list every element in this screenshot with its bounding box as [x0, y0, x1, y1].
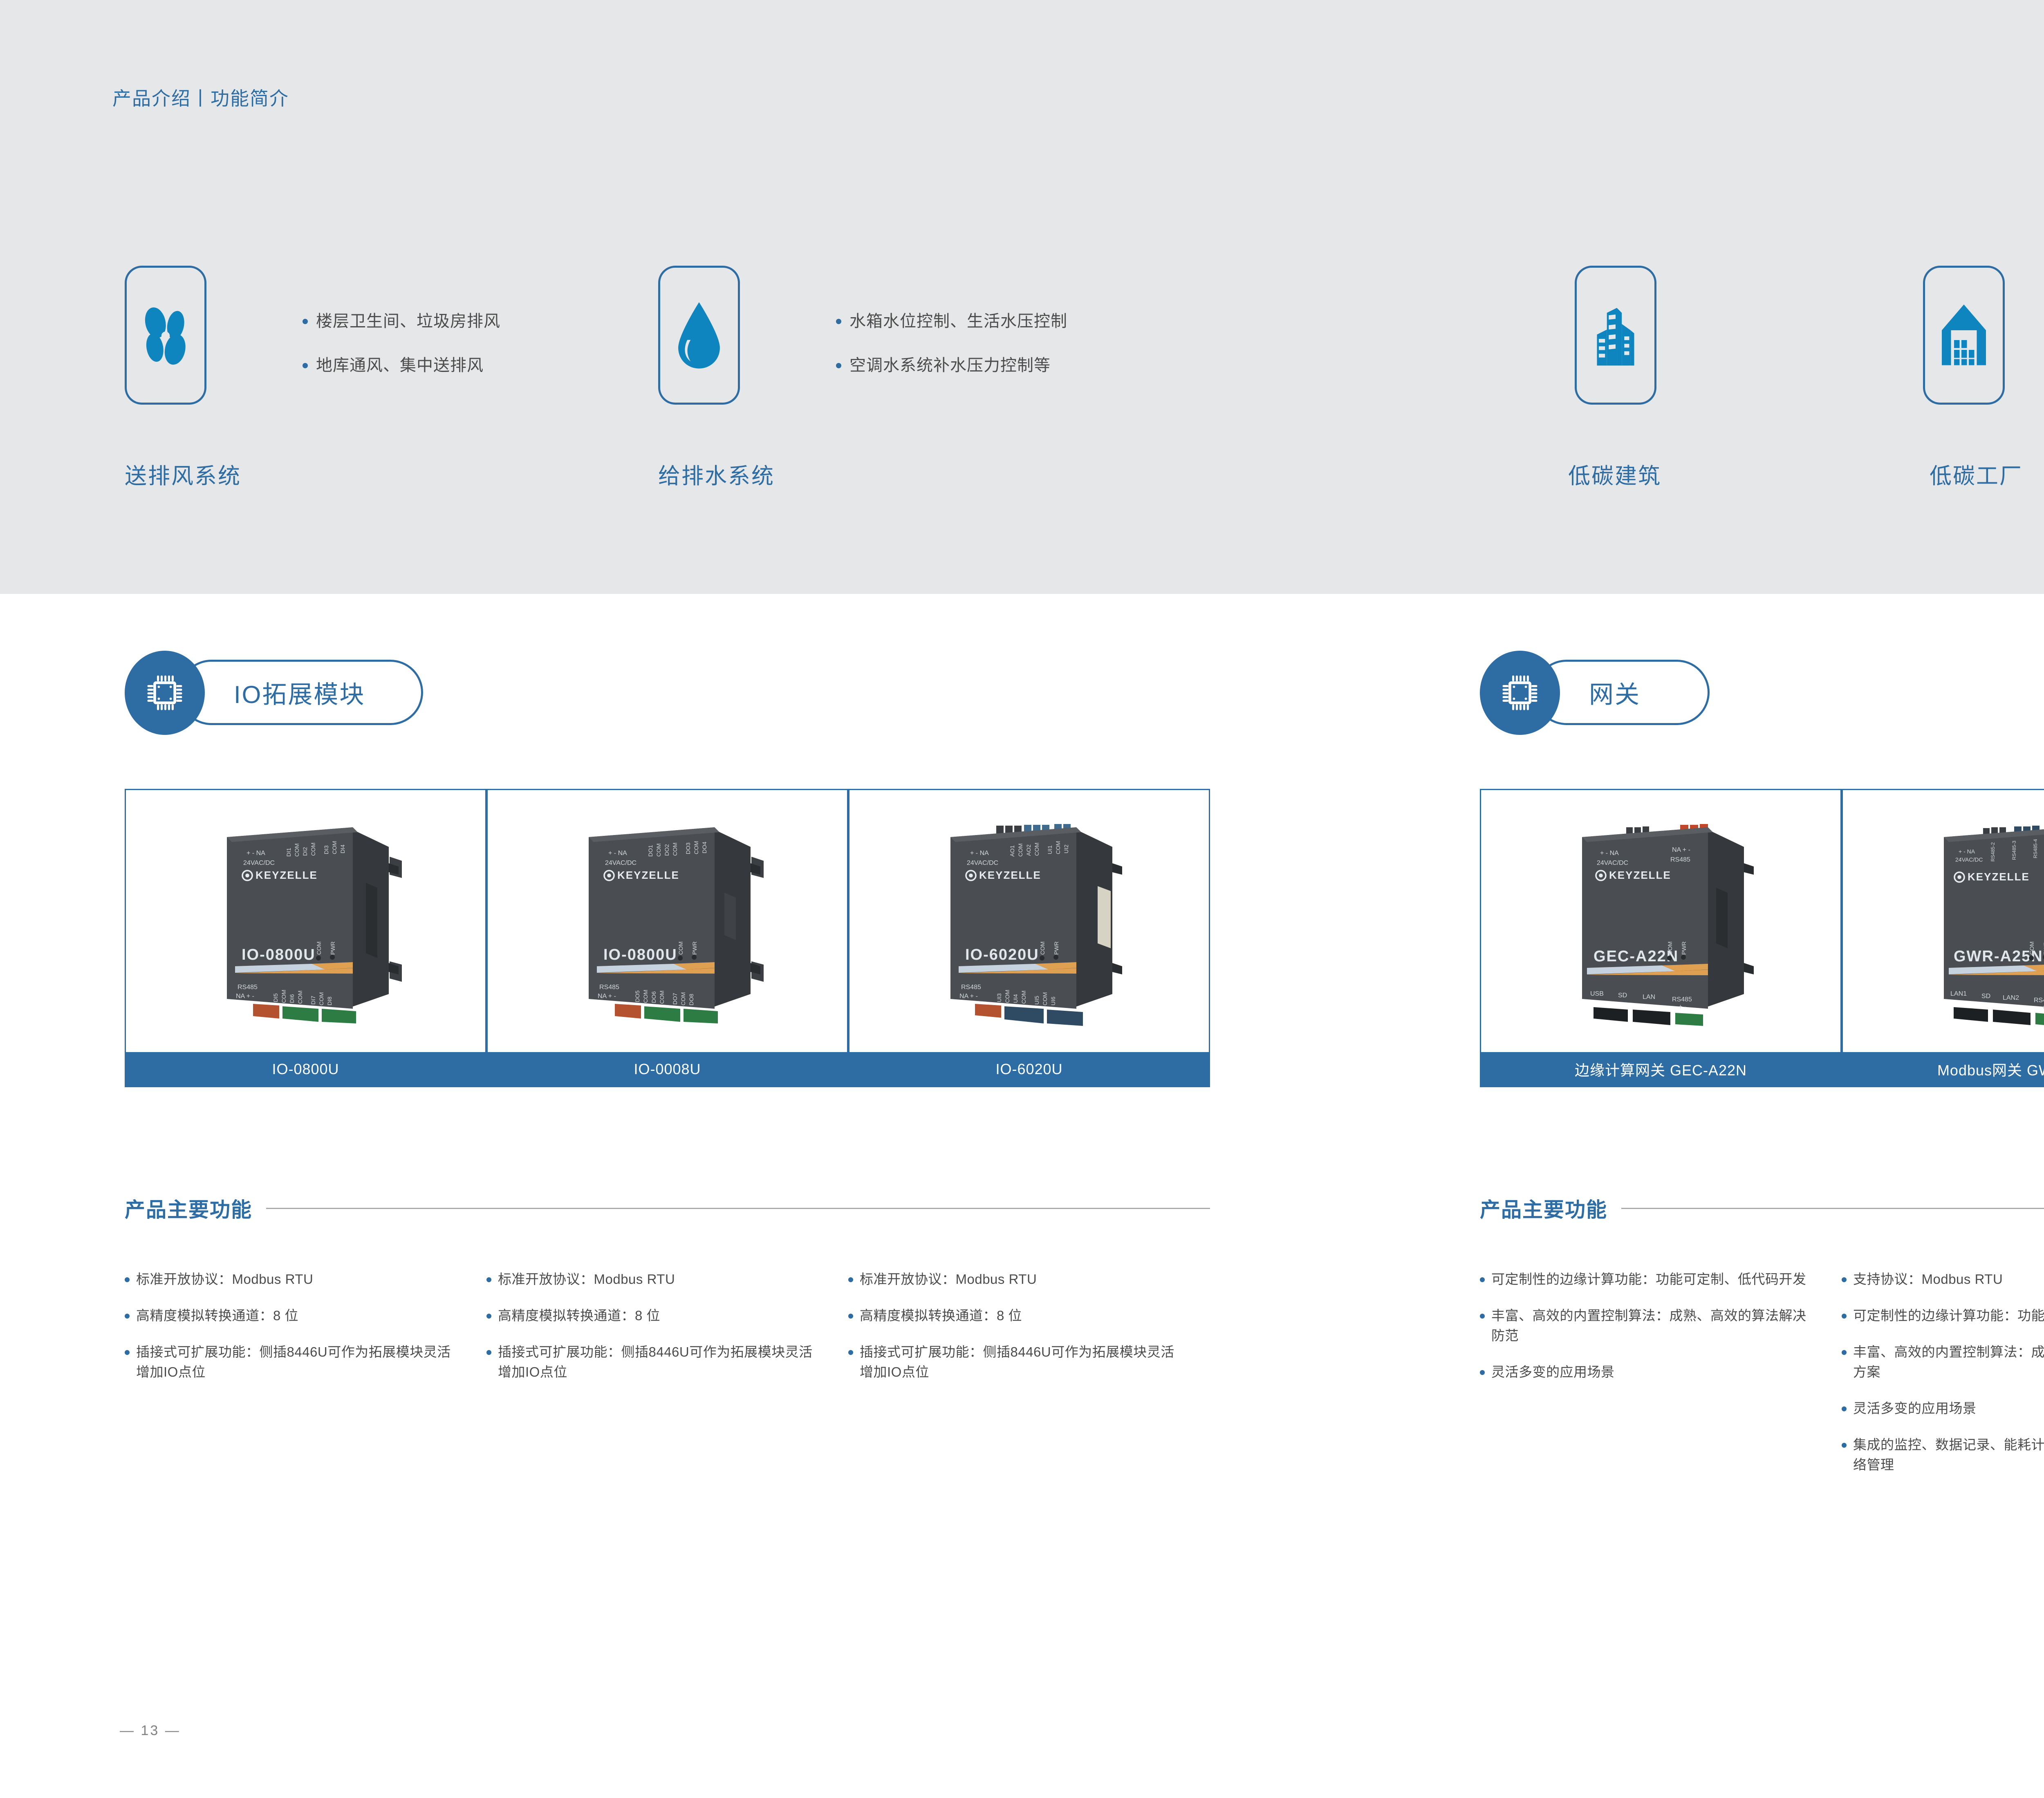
feature-text: 集成的监控、数据记录、能耗计量、报警、调度和网络管理	[1853, 1435, 2044, 1475]
svg-text:DI4: DI4	[339, 844, 346, 853]
svg-text:24VAC/DC: 24VAC/DC	[967, 860, 998, 867]
svg-text:24VAC/DC: 24VAC/DC	[1597, 860, 1628, 867]
feature-text: 灵活多变的应用场景	[1853, 1398, 1977, 1418]
page-number-left: — 13 —	[120, 1723, 181, 1739]
list-item: 楼层卫生间、垃圾房排风	[303, 311, 500, 332]
feature-item: 可定制性的边缘计算功能：功能可定制、低代码开发	[1842, 1305, 2044, 1326]
svg-text:DI2: DI2	[302, 847, 308, 856]
feature-text: 丰富、高效的内置控制算法：成熟、高效的算法解决方案	[1853, 1342, 2044, 1382]
product-card[interactable]: + - NA 24VAC/DC AO1 COM AO2 COM UI1 COM …	[848, 789, 1210, 1087]
svg-text:IO-6020U: IO-6020U	[965, 946, 1039, 963]
svg-text:COM: COM	[1039, 941, 1046, 955]
bullet-text: 水箱水位控制、生活水压控制	[849, 311, 1067, 332]
svg-text:COM: COM	[677, 941, 684, 955]
svg-text:DI7: DI7	[310, 996, 316, 1005]
product-caption: Modbus网关 GWR-A25N	[1843, 1052, 2044, 1086]
svg-text:SD: SD	[1618, 992, 1627, 999]
svg-text:DI5: DI5	[272, 993, 279, 1002]
svg-text:RS485: RS485	[1670, 856, 1690, 863]
svg-text:24VAC/DC: 24VAC/DC	[1955, 856, 1983, 863]
device-image-io-6020u: + - NA 24VAC/DC AO1 COM AO2 COM UI1 COM …	[905, 811, 1154, 1032]
svg-text:UI5: UI5	[1033, 996, 1040, 1005]
feature-text: 标准开放协议：Modbus RTU	[860, 1269, 1037, 1289]
svg-text:USB: USB	[1590, 990, 1604, 997]
feature-column: 标准开放协议：Modbus RTU 高精度模拟转换通道：8 位 插接式可扩展功能…	[848, 1269, 1188, 1398]
feature-text: 标准开放协议：Modbus RTU	[136, 1269, 313, 1289]
svg-text:RS485: RS485	[599, 984, 619, 991]
bullet-dot	[1480, 1314, 1485, 1319]
feature-text: 插接式可扩展功能：侧插8446U可作为拓展模块灵活增加IO点位	[498, 1342, 814, 1382]
svg-text:AO1: AO1	[1009, 845, 1015, 856]
svg-text:DI8: DI8	[326, 996, 333, 1005]
svg-text:COM: COM	[297, 990, 303, 1004]
bullet-text: 楼层卫生间、垃圾房排风	[316, 311, 500, 332]
feature-text: 标准开放协议：Modbus RTU	[498, 1269, 675, 1289]
bullet-dot	[1480, 1277, 1485, 1282]
svg-text:COM: COM	[280, 990, 287, 1003]
feature-item: 高精度模拟转换通道：8 位	[486, 1305, 814, 1326]
feature-text: 高精度模拟转换通道：8 位	[860, 1305, 1022, 1326]
svg-text:DO4: DO4	[701, 842, 708, 853]
svg-text:UI2: UI2	[1063, 844, 1069, 853]
svg-text:PWR: PWR	[691, 941, 698, 955]
svg-text:+ - NA: + - NA	[247, 850, 265, 857]
svg-text:LAN1: LAN1	[1950, 990, 1967, 997]
feature-text: 丰富、高效的内置控制算法：成熟、高效的算法解决防范	[1491, 1305, 1807, 1346]
feature-column: 支持协议：Modbus RTU 可定制性的边缘计算功能：功能可定制、低代码开发 …	[1842, 1269, 2044, 1491]
bullet-dot	[1842, 1406, 1847, 1411]
svg-text:KEYZELLE: KEYZELLE	[255, 869, 318, 881]
svg-text:GEC-A22N: GEC-A22N	[1594, 948, 1679, 965]
section-badge-gateway: 网关	[1480, 651, 1709, 735]
product-caption: IO-6020U	[849, 1052, 1209, 1086]
chip-icon	[1480, 651, 1560, 735]
svg-text:NA + -: NA + -	[236, 993, 254, 1000]
feature-item: 标准开放协议：Modbus RTU	[125, 1269, 452, 1289]
feature-text: 可定制性的边缘计算功能：功能可定制、低代码开发	[1491, 1269, 1806, 1289]
feature-column: 标准开放协议：Modbus RTU 高精度模拟转换通道：8 位 插接式可扩展功能…	[486, 1269, 814, 1398]
svg-text:RS485: RS485	[238, 984, 258, 991]
svg-text:COM: COM	[318, 992, 325, 1005]
svg-text:COM: COM	[1017, 843, 1024, 857]
svg-text:COM: COM	[294, 843, 300, 857]
svg-text:COM: COM	[659, 990, 665, 1004]
bullet-dot	[1842, 1277, 1847, 1282]
svg-text:24VAC/DC: 24VAC/DC	[243, 860, 275, 867]
scenario-bullets-fan: 楼层卫生间、垃圾房排风 地库通风、集中送排风	[303, 311, 500, 399]
svg-text:UI4: UI4	[1012, 994, 1019, 1003]
top-grey-band	[0, 0, 2044, 594]
section-badge-io: IO拓展模块	[125, 651, 423, 735]
svg-text:COM: COM	[310, 842, 316, 856]
svg-text:KEYZELLE: KEYZELLE	[1609, 869, 1671, 881]
svg-text:UI6: UI6	[1050, 996, 1056, 1005]
product-card[interactable]: + - NA 24VAC/DC NA + - RS485 KEYZELLE GE…	[1480, 789, 1842, 1087]
bullet-dot	[848, 1314, 853, 1319]
feature-text: 插接式可扩展功能：侧插8446U可作为拓展模块灵活增加IO点位	[136, 1342, 452, 1382]
feature-text: 高精度模拟转换通道：8 位	[498, 1305, 660, 1326]
chip-icon	[125, 651, 205, 735]
chip-icon-glyph	[142, 670, 188, 716]
bullet-dot	[1842, 1350, 1847, 1355]
feature-item: 高精度模拟转换通道：8 位	[125, 1305, 452, 1326]
product-card[interactable]: + - NA 24VAC/DC DI1 COM DI2 COM DI3 COM …	[125, 789, 486, 1087]
bullet-dot	[1480, 1370, 1485, 1375]
svg-text:COM: COM	[1667, 941, 1673, 955]
fan-icon	[135, 302, 196, 368]
svg-text:RS485: RS485	[1672, 996, 1692, 1003]
svg-text:RS485-1: RS485-1	[2034, 997, 2044, 1004]
svg-text:COM: COM	[655, 843, 662, 857]
bullet-dot	[848, 1277, 853, 1282]
svg-text:COM: COM	[316, 941, 322, 955]
feature-item: 灵活多变的应用场景	[1480, 1362, 1807, 1382]
feature-item: 标准开放协议：Modbus RTU	[848, 1269, 1188, 1289]
svg-text:NA + -: NA + -	[959, 993, 978, 1000]
feature-item: 插接式可扩展功能：侧插8446U可作为拓展模块灵活增加IO点位	[848, 1342, 1188, 1382]
svg-text:UI3: UI3	[996, 993, 1002, 1002]
svg-text:NA + -: NA + -	[1672, 846, 1690, 853]
bullet-dot	[303, 363, 308, 368]
bullet-dot	[125, 1277, 130, 1282]
svg-text:DI3: DI3	[323, 845, 329, 854]
svg-text:DO6: DO6	[650, 991, 657, 1003]
svg-text:COM: COM	[1004, 990, 1011, 1003]
scenario-tile-water	[658, 266, 740, 405]
target-caption-factory: 低碳工厂	[1930, 458, 2023, 490]
bullet-dot	[848, 1350, 853, 1355]
svg-text:COM: COM	[2028, 941, 2035, 955]
section-badge-label: IO拓展模块	[234, 675, 365, 710]
feature-text: 插接式可扩展功能：侧插8446U可作为拓展模块灵活增加IO点位	[860, 1342, 1188, 1382]
svg-text:NA + -: NA + -	[598, 993, 616, 1000]
feature-text: 可定制性的边缘计算功能：功能可定制、低代码开发	[1853, 1305, 2044, 1326]
svg-text:RS485-3: RS485-3	[2011, 840, 2017, 860]
page-header-left: 产品介绍丨功能简介	[112, 84, 289, 111]
device-image-gwr-a25n: + - NA 24VAC/DC RS485-2 RS485-3 RS485-4 …	[1898, 811, 2044, 1032]
svg-text:+ - NA: + - NA	[1600, 850, 1619, 857]
svg-text:COM: COM	[1055, 841, 1061, 854]
feature-item: 支持协议：Modbus RTU	[1842, 1269, 2044, 1289]
svg-text:COM: COM	[331, 841, 338, 854]
bullet-dot	[486, 1277, 491, 1282]
feature-item: 可定制性的边缘计算功能：功能可定制、低代码开发	[1480, 1269, 1807, 1289]
section-badge-pill: IO拓展模块	[179, 660, 423, 725]
svg-text:AO2: AO2	[1025, 844, 1032, 855]
svg-text:+ - NA: + - NA	[970, 850, 989, 857]
svg-text:DO5: DO5	[634, 990, 641, 1002]
product-photo: + - NA 24VAC/DC AO1 COM AO2 COM UI1 COM …	[849, 790, 1209, 1052]
bullet-dot	[125, 1314, 130, 1319]
svg-text:COM: COM	[642, 990, 649, 1003]
svg-text:PWR: PWR	[2042, 941, 2044, 955]
svg-text:PWR: PWR	[329, 941, 336, 955]
svg-text:RS485: RS485	[961, 984, 981, 991]
svg-text:PWR: PWR	[1681, 941, 1687, 955]
feature-item: 灵活多变的应用场景	[1842, 1398, 2044, 1418]
svg-text:DO1: DO1	[647, 845, 654, 857]
features-heading-gateway: 产品主要功能	[1480, 1193, 2044, 1223]
product-caption: IO-0800U	[126, 1052, 485, 1086]
svg-text:24VAC/DC: 24VAC/DC	[605, 860, 637, 867]
feature-text: 灵活多变的应用场景	[1491, 1362, 1615, 1382]
svg-text:LAN: LAN	[1643, 994, 1655, 1001]
feature-item: 高精度模拟转换通道：8 位	[848, 1305, 1188, 1326]
bullet-dot	[486, 1350, 491, 1355]
product-photo: + - NA 24VAC/DC DO1 COM DO2 COM DO3 COM …	[488, 790, 847, 1052]
product-caption: 边缘计算网关 GEC-A22N	[1481, 1052, 1840, 1086]
features-heading-text: 产品主要功能	[125, 1193, 252, 1223]
svg-text:DI1: DI1	[285, 848, 292, 857]
feature-item: 插接式可扩展功能：侧插8446U可作为拓展模块灵活增加IO点位	[486, 1342, 814, 1382]
svg-text:RS485-2: RS485-2	[1990, 842, 1996, 862]
bullet-dot	[1842, 1314, 1847, 1319]
svg-text:+ - NA: + - NA	[608, 850, 627, 857]
list-item: 水箱水位控制、生活水压控制	[836, 311, 1067, 332]
feature-text: 支持协议：Modbus RTU	[1853, 1269, 2003, 1289]
product-photo: + - NA 24VAC/DC DI1 COM DI2 COM DI3 COM …	[126, 790, 485, 1052]
heading-rule	[266, 1208, 1210, 1209]
features-heading-io: 产品主要功能	[125, 1193, 1210, 1223]
svg-text:UI1: UI1	[1047, 845, 1053, 854]
svg-text:COM: COM	[1042, 992, 1048, 1005]
bullet-dot	[486, 1314, 491, 1319]
scenario-tile-fan	[125, 266, 206, 405]
svg-text:COM: COM	[693, 841, 699, 854]
svg-text:KEYZELLE: KEYZELLE	[617, 869, 679, 881]
product-photo: + - NA 24VAC/DC NA + - RS485 KEYZELLE GE…	[1481, 790, 1840, 1052]
product-photo: + - NA 24VAC/DC RS485-2 RS485-3 RS485-4 …	[1843, 790, 2044, 1052]
bullet-dot	[836, 363, 841, 368]
scenario-caption-fan: 送排风系统	[125, 458, 241, 490]
svg-text:DO8: DO8	[688, 994, 695, 1005]
svg-text:DO3: DO3	[685, 842, 691, 854]
scenario-bullets-water: 水箱水位控制、生活水压控制 空调水系统补水压力控制等	[836, 311, 1067, 399]
svg-text:PWR: PWR	[1053, 941, 1060, 955]
svg-text:COM: COM	[1033, 842, 1040, 856]
feature-text: 高精度模拟转换通道：8 位	[136, 1305, 298, 1326]
scenario-caption-water: 给排水系统	[658, 458, 775, 490]
features-heading-text: 产品主要功能	[1480, 1193, 1607, 1223]
svg-text:IO-0800U: IO-0800U	[603, 946, 677, 963]
list-item: 空调水系统补水压力控制等	[836, 355, 1067, 376]
feature-item: 丰富、高效的内置控制算法：成熟、高效的算法解决方案	[1842, 1342, 2044, 1382]
target-tile-building	[1575, 266, 1656, 405]
feature-item: 丰富、高效的内置控制算法：成熟、高效的算法解决防范	[1480, 1305, 1807, 1346]
target-tile-factory	[1923, 266, 2005, 405]
section-badge-pill: 网关	[1534, 660, 1710, 725]
heading-rule	[1621, 1208, 2044, 1209]
svg-text:LAN2: LAN2	[2003, 994, 2019, 1001]
feature-column: 标准开放协议：Modbus RTU 高精度模拟转换通道：8 位 插接式可扩展功能…	[125, 1269, 452, 1398]
target-caption-building: 低碳建筑	[1568, 458, 1661, 490]
office-building-icon	[1585, 300, 1647, 370]
bullet-text: 空调水系统补水压力控制等	[849, 355, 1051, 376]
feature-item: 集成的监控、数据记录、能耗计量、报警、调度和网络管理	[1842, 1435, 2044, 1475]
product-card[interactable]: + - NA 24VAC/DC RS485-2 RS485-3 RS485-4 …	[1842, 789, 2044, 1087]
bullet-dot	[1842, 1443, 1847, 1448]
svg-text:+ -: + -	[1679, 1003, 1686, 1010]
product-card[interactable]: + - NA 24VAC/DC DO1 COM DO2 COM DO3 COM …	[486, 789, 848, 1087]
svg-text:KEYZELLE: KEYZELLE	[979, 869, 1041, 881]
product-caption: IO-0008U	[488, 1052, 847, 1086]
bullet-text: 地库通风、集中送排风	[316, 355, 484, 376]
list-item: 地库通风、集中送排风	[303, 355, 500, 376]
svg-text:DI6: DI6	[289, 994, 295, 1003]
bullet-dot	[303, 319, 308, 324]
svg-text:COM: COM	[672, 842, 678, 856]
svg-text:RS485-4: RS485-4	[2033, 839, 2038, 858]
feature-item: 标准开放协议：Modbus RTU	[486, 1269, 814, 1289]
chip-icon-glyph	[1497, 670, 1543, 716]
factory-icon	[1933, 300, 1995, 370]
svg-text:+ - NA: + - NA	[1959, 848, 1975, 855]
svg-text:SD: SD	[1981, 993, 1990, 1000]
svg-text:DO2: DO2	[663, 844, 670, 856]
bullet-dot	[125, 1350, 130, 1355]
svg-text:DO7: DO7	[672, 993, 678, 1005]
device-image-io-0800u: + - NA 24VAC/DC DI1 COM DI2 COM DI3 COM …	[181, 811, 430, 1032]
section-badge-label: 网关	[1589, 675, 1641, 710]
svg-text:+ -: + -	[2042, 1004, 2044, 1011]
feature-column: 可定制性的边缘计算功能：功能可定制、低代码开发 丰富、高效的内置控制算法：成熟、…	[1480, 1269, 1807, 1398]
device-image-io-0008u: + - NA 24VAC/DC DO1 COM DO2 COM DO3 COM …	[543, 811, 792, 1032]
feature-item: 插接式可扩展功能：侧插8446U可作为拓展模块灵活增加IO点位	[125, 1342, 452, 1382]
svg-text:KEYZELLE: KEYZELLE	[1968, 871, 2030, 883]
svg-text:COM: COM	[680, 992, 686, 1005]
water-drop-icon	[672, 300, 726, 371]
bullet-dot	[836, 319, 841, 324]
svg-text:COM: COM	[1020, 990, 1027, 1004]
device-image-gec-a22n: + - NA 24VAC/DC NA + - RS485 KEYZELLE GE…	[1536, 811, 1786, 1032]
svg-text:IO-0800U: IO-0800U	[242, 946, 316, 963]
